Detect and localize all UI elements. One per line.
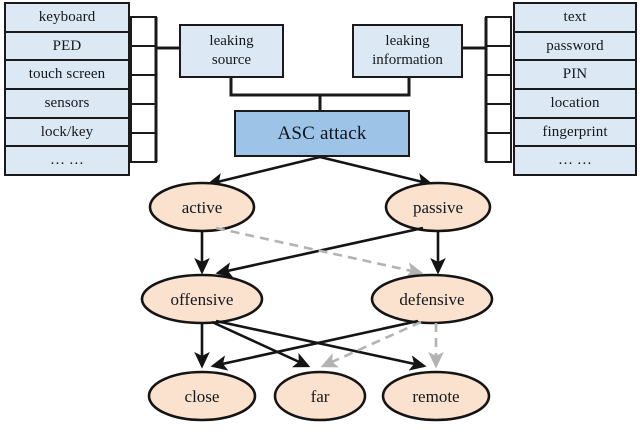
list-item[interactable]: password bbox=[515, 33, 635, 62]
leaking-source-label-line2: source bbox=[212, 51, 251, 70]
leaking-information-list: text password PIN location fingerprint …… bbox=[513, 2, 637, 176]
list-item[interactable]: text bbox=[515, 4, 635, 33]
asc-attack-label: ASC attack bbox=[277, 123, 366, 145]
node-remote bbox=[383, 372, 489, 420]
leaking-source-box[interactable]: leaking source bbox=[179, 24, 284, 78]
edge-group-level2 bbox=[202, 228, 438, 273]
list-item[interactable]: PED bbox=[6, 33, 128, 62]
leaking-information-label-line2: information bbox=[372, 51, 443, 70]
list-item[interactable]: PIN bbox=[515, 61, 635, 90]
ellipse-group-level1 bbox=[150, 183, 490, 231]
edge-asc-passive bbox=[320, 157, 431, 184]
leaking-information-label-line1: leaking bbox=[385, 32, 429, 51]
diagram-canvas: keyboard PED touch screen sensors lock/k… bbox=[0, 0, 640, 437]
list-item[interactable]: keyboard bbox=[6, 4, 128, 33]
edge-asc-active bbox=[209, 157, 320, 184]
leaking-information-box[interactable]: leaking information bbox=[352, 24, 463, 78]
right-bracket bbox=[463, 17, 511, 162]
edge-group-level1 bbox=[209, 157, 431, 184]
left-bracket bbox=[131, 17, 179, 162]
node-active bbox=[150, 183, 254, 231]
root-connector bbox=[231, 78, 409, 110]
list-item[interactable]: touch screen bbox=[6, 61, 128, 90]
edge-group-level3 bbox=[202, 321, 436, 366]
leaking-source-list: keyboard PED touch screen sensors lock/k… bbox=[4, 2, 130, 176]
node-close bbox=[149, 372, 255, 420]
ellipse-group-level2 bbox=[142, 275, 492, 323]
list-item[interactable]: location bbox=[515, 90, 635, 119]
edge-defensive-far bbox=[323, 322, 421, 366]
node-offensive bbox=[142, 275, 262, 323]
list-item[interactable]: lock/key bbox=[6, 119, 128, 148]
list-item[interactable]: … … bbox=[515, 147, 635, 174]
leaking-source-label-line1: leaking bbox=[209, 32, 253, 51]
node-passive bbox=[386, 183, 490, 231]
list-item[interactable]: sensors bbox=[6, 90, 128, 119]
asc-attack-box[interactable]: ASC attack bbox=[234, 110, 410, 157]
edge-offensive-far bbox=[212, 322, 308, 366]
list-item[interactable]: … … bbox=[6, 147, 128, 174]
node-defensive bbox=[372, 275, 492, 323]
list-item[interactable]: fingerprint bbox=[515, 119, 635, 148]
ellipse-group-level3 bbox=[149, 372, 489, 420]
node-far bbox=[275, 372, 365, 420]
